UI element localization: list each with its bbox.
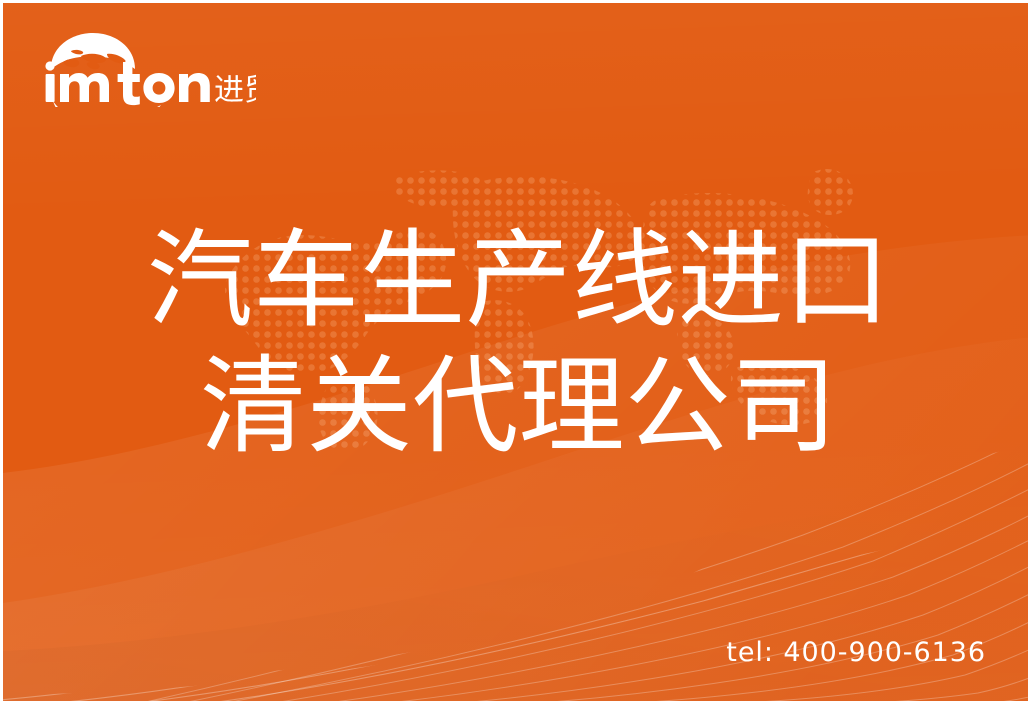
poster-canvas: 进贸通 ® 汽车生产线进口 清关代理公司 tel: 400-900-6136 — [0, 0, 1031, 704]
logo-chinese-name: 进贸通 — [214, 73, 256, 107]
contact-phone[interactable]: tel: 400-900-6136 — [726, 637, 986, 668]
company-logo[interactable]: 进贸通 ® — [41, 29, 256, 107]
background-fill — [3, 3, 1028, 701]
wordmark-imton — [45, 61, 209, 105]
globe-icon — [51, 33, 135, 69]
